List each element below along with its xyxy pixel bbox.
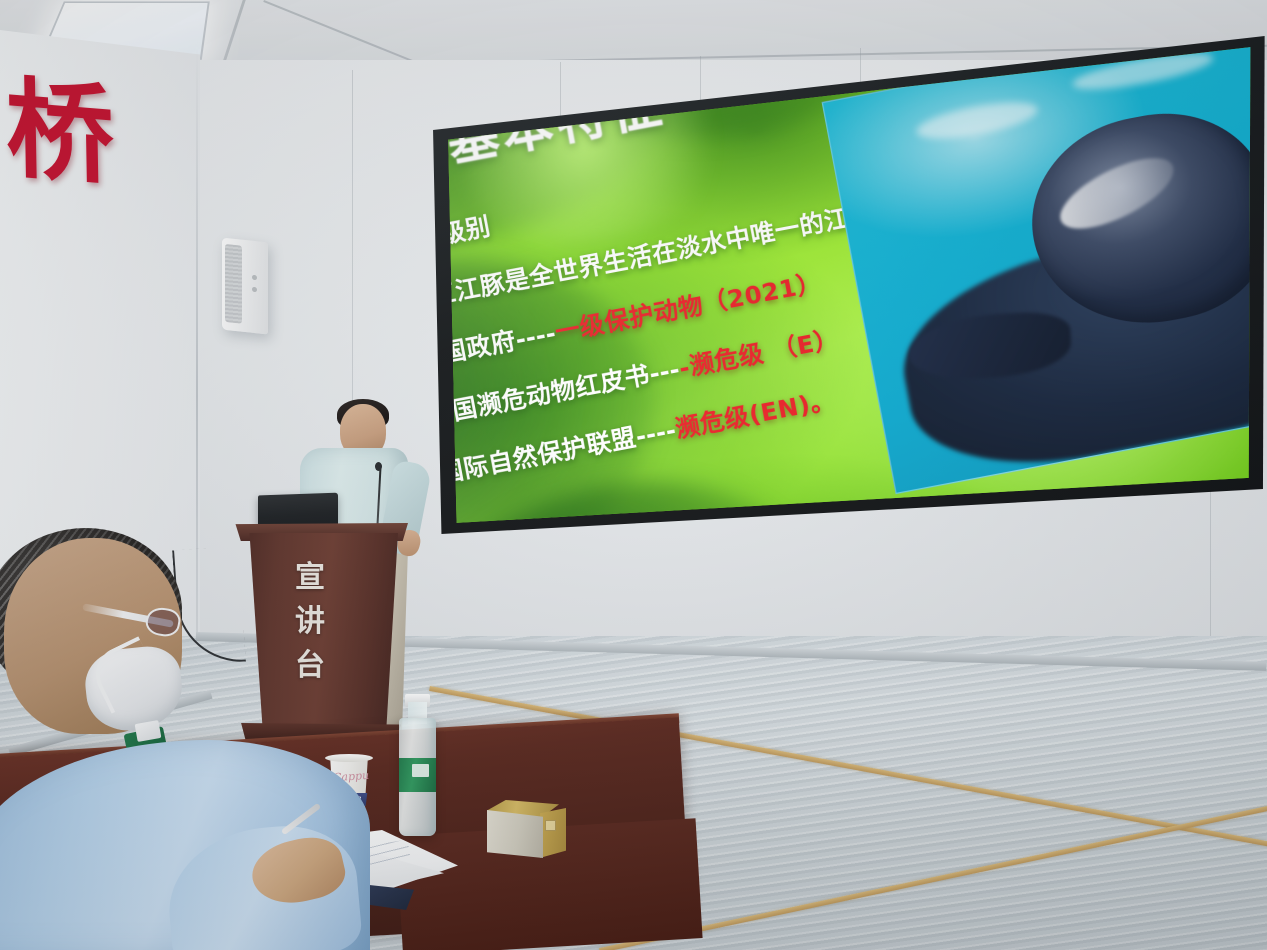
slide-line-3-dash: ---- xyxy=(513,318,558,354)
water-ripple xyxy=(914,95,1041,145)
gift-box-mark xyxy=(545,820,556,831)
slide-line-5-dash: ---- xyxy=(633,414,678,450)
wall-speaker xyxy=(222,238,268,335)
cup-rim xyxy=(325,754,373,762)
speaker-grille-icon xyxy=(225,244,242,324)
speaker-dot-icon xyxy=(252,287,257,293)
slide-line-5-red: 濒危级(EN)。 xyxy=(673,384,838,443)
bottle-label-mark xyxy=(412,764,429,777)
display-panel: 湖南长江集团 一、基本特征 1、保护级别 长江江豚是全世界生活在淡水中唯一的江豚… xyxy=(428,32,1267,537)
gift-box[interactable] xyxy=(487,810,543,858)
podium-label: 宣讲台 xyxy=(284,556,336,688)
led-display[interactable]: 湖南长江集团 一、基本特征 1、保护级别 长江江豚是全世界生活在淡水中唯一的江豚… xyxy=(428,32,1267,537)
speaker-dot-icon xyxy=(252,275,257,281)
presentation-room-photo: 桥 xyxy=(0,0,1267,950)
presentation-slide: 湖南长江集团 一、基本特征 1、保护级别 长江江豚是全世界生活在淡水中唯一的江豚… xyxy=(428,32,1267,537)
slide-line-5-white: 国际自然保护联盟 xyxy=(437,422,639,488)
slide-logo: 湖南长江集团 xyxy=(428,67,429,109)
wall-calligraphy-character: 桥 xyxy=(5,74,115,201)
slide-line-4-red: -濒危级 （E） xyxy=(677,324,842,383)
microphone-head-icon xyxy=(375,462,382,471)
porpoise-photo xyxy=(822,32,1267,495)
